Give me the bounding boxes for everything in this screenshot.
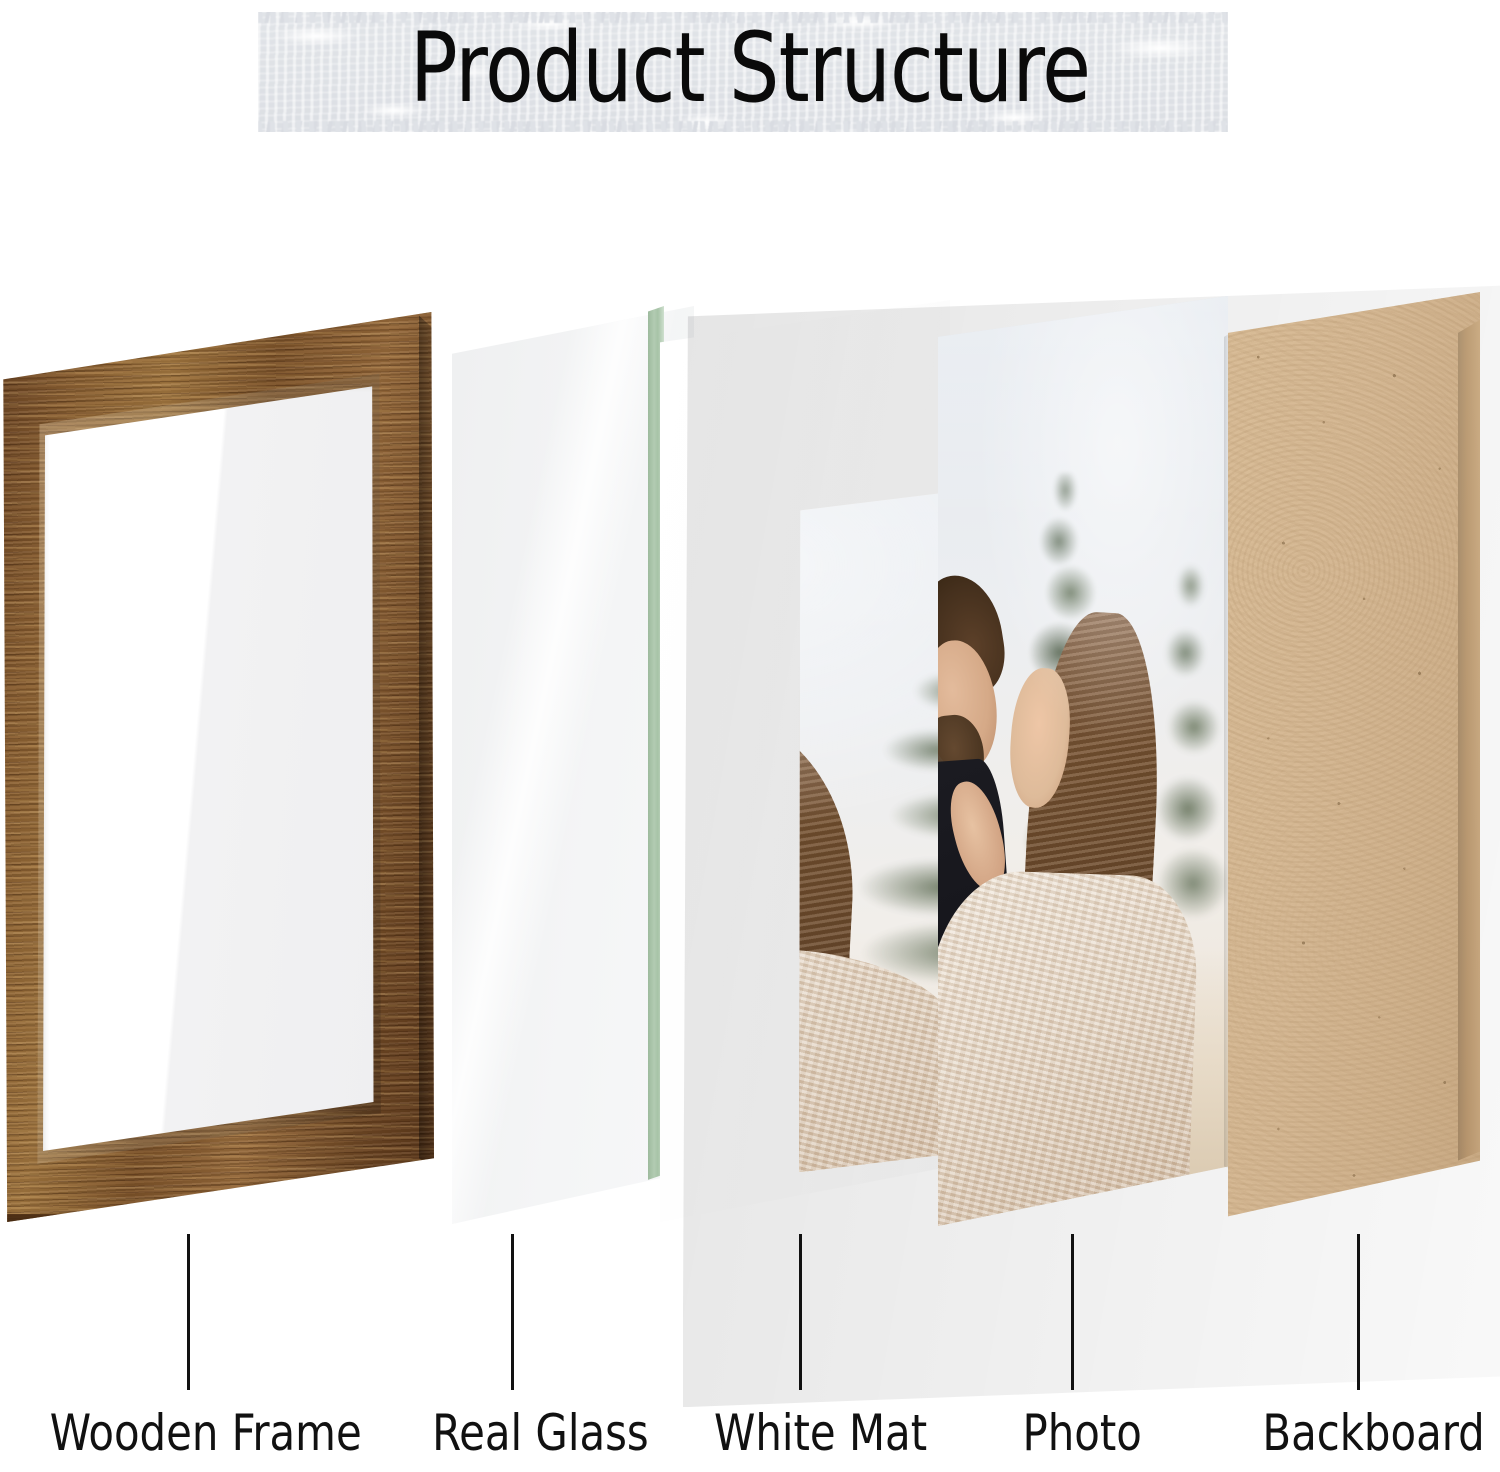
leader-line-photo (1071, 1234, 1074, 1390)
layer-photo[interactable] (938, 296, 1228, 1226)
layer-backboard[interactable] (1228, 292, 1480, 1222)
photo-haze (799, 490, 950, 1172)
leader-line-white-mat (799, 1234, 802, 1390)
mat-window (660, 300, 950, 1222)
photo-scene-mirror (799, 490, 950, 1172)
exploded-diagram (0, 0, 1500, 1472)
photo-haze (938, 296, 1228, 1226)
photo-scene (938, 296, 1228, 1226)
backboard-texture (1228, 292, 1480, 1222)
label-white-mat: White Mat (714, 1404, 927, 1462)
leader-line-wooden-frame (187, 1234, 190, 1390)
label-wooden-frame: Wooden Frame (50, 1404, 362, 1462)
frame-edge-right (419, 312, 435, 1222)
mat-window-opening (799, 490, 950, 1172)
label-backboard: Backboard (1262, 1404, 1484, 1462)
mat-window-photo-glimpse (799, 490, 950, 1172)
leader-line-backboard (1357, 1234, 1360, 1390)
layer-labels: Wooden Frame Real Glass White Mat Photo … (0, 1404, 1500, 1472)
label-photo: Photo (1022, 1404, 1141, 1462)
layer-wooden-frame[interactable] (2, 312, 434, 1222)
frame-opening (43, 385, 373, 1151)
frame-edge-bottom (6, 1214, 434, 1236)
backboard-edge (1458, 292, 1480, 1222)
leader-line-real-glass (511, 1234, 514, 1390)
label-real-glass: Real Glass (432, 1404, 649, 1462)
